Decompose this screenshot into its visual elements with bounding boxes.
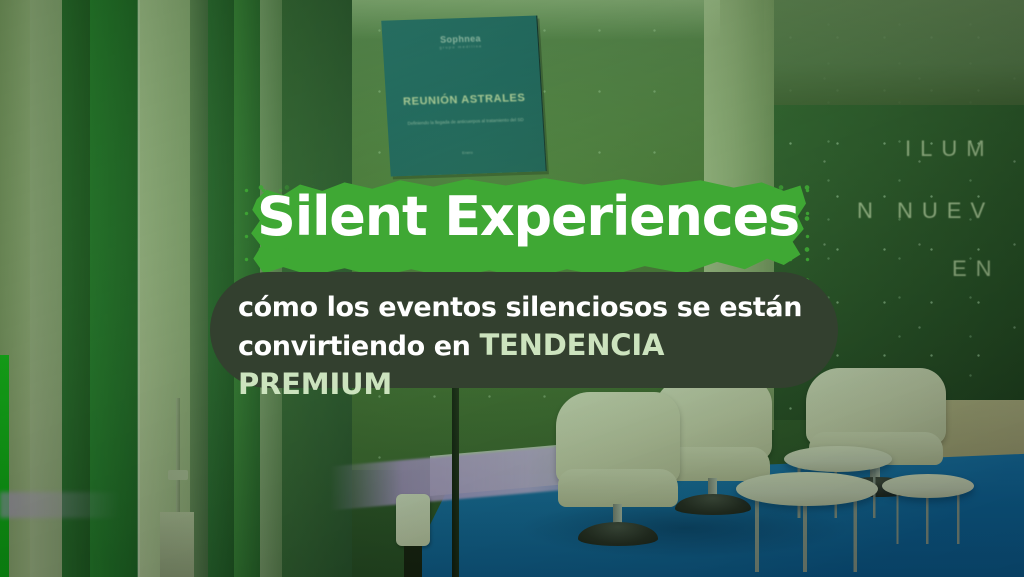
- subtitle-panel: cómo los eventos silenciosos se están co…: [210, 272, 838, 388]
- headline-banner: Silent Experiences: [250, 176, 806, 282]
- subtitle-line-2-prefix: convirtiendo en: [238, 331, 479, 362]
- page-title: Silent Experiences: [250, 190, 806, 244]
- header-graphic: ILUM N NUEV EN Sophnea grupo mediline RE…: [0, 0, 1024, 577]
- subtitle-line-1: cómo los eventos silenciosos se están: [238, 290, 810, 326]
- subtitle-line-2: convirtiendo en TENDENCIA PREMIUM: [238, 326, 810, 404]
- subtitle: cómo los eventos silenciosos se están co…: [238, 290, 810, 405]
